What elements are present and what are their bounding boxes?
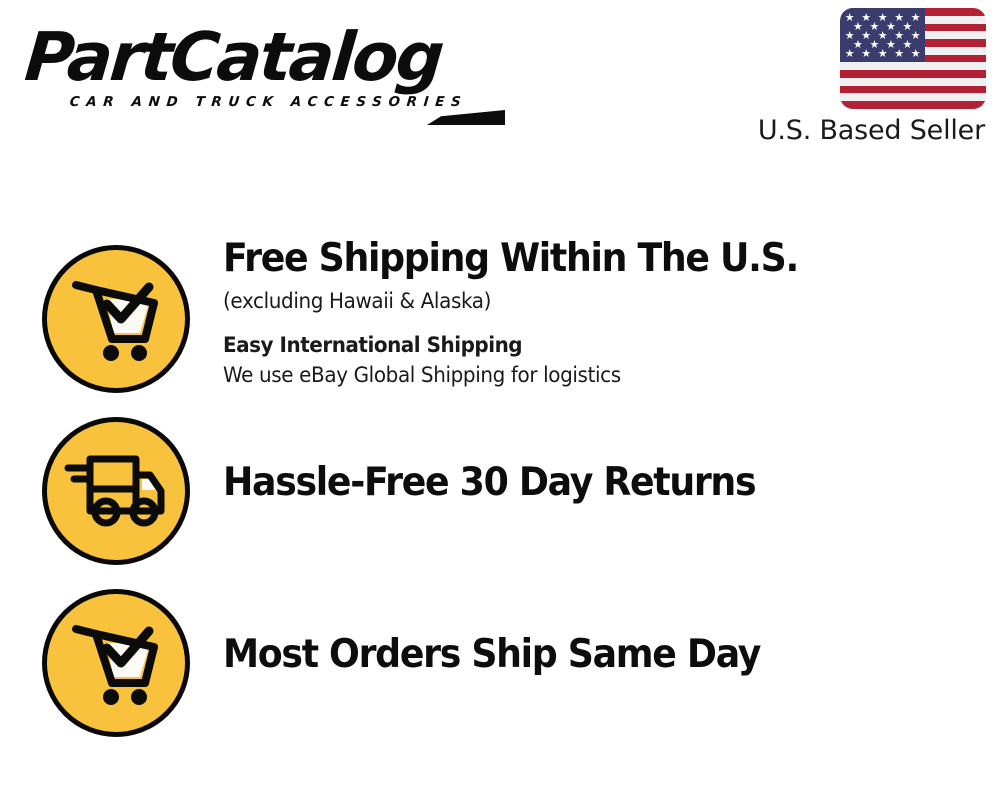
flag-stripe <box>840 93 986 101</box>
flag-stripe <box>840 101 986 109</box>
seller-badge-label: U.S. Based Seller <box>718 115 986 146</box>
feature-text-block: Most Orders Ship Same Day <box>223 632 960 678</box>
feature-heading: Free Shipping Within The U.S. <box>223 236 908 282</box>
flag-stripe <box>840 70 986 78</box>
banner-header: PartCatalog CAR AND TRUCK ACCESSORIES ★★… <box>0 0 1000 170</box>
feature-text-block: Free Shipping Within The U.S. (excluding… <box>223 236 960 390</box>
flag-stripe <box>840 86 986 94</box>
flag-star-row: ★★★★★ <box>840 49 925 60</box>
flag-canton: ★★★★★ ★★★★ ★★★★★ ★★★★ ★★★★★ <box>840 8 925 62</box>
shopping-cart-check-icon <box>42 589 190 737</box>
feature-row-same-day: Most Orders Ship Same Day <box>0 572 1000 744</box>
feature-row-returns: Hassle-Free 30 Day Returns <box>0 400 1000 572</box>
brand-wordmark: PartCatalog <box>22 18 445 96</box>
feature-sub-excluding: (excluding Hawaii & Alaska) <box>223 286 923 316</box>
feature-row-free-shipping: Free Shipping Within The U.S. (excluding… <box>0 228 1000 400</box>
brand-swoosh-shape <box>427 110 505 125</box>
us-flag-icon: ★★★★★ ★★★★ ★★★★★ ★★★★ ★★★★★ <box>840 8 986 109</box>
seller-badge: ★★★★★ ★★★★ ★★★★★ ★★★★ ★★★★★ U.S. Based S… <box>718 8 986 146</box>
features-list: Free Shipping Within The U.S. (excluding… <box>0 228 1000 744</box>
feature-heading: Hassle-Free 30 Day Returns <box>223 460 908 506</box>
flag-stripe <box>840 62 986 70</box>
brand-tagline: CAR AND TRUCK ACCESSORIES <box>69 94 468 110</box>
flag-stripe <box>840 78 986 86</box>
feature-sub-ebay: We use eBay Global Shipping for logistic… <box>223 360 923 390</box>
brand-logo[interactable]: PartCatalog CAR AND TRUCK ACCESSORIES <box>22 18 492 113</box>
shopping-cart-check-icon <box>42 245 190 393</box>
feature-heading: Most Orders Ship Same Day <box>223 632 908 678</box>
feature-text-block: Hassle-Free 30 Day Returns <box>223 460 960 506</box>
feature-sub-international: Easy International Shipping <box>223 330 923 360</box>
delivery-truck-icon <box>42 417 190 565</box>
